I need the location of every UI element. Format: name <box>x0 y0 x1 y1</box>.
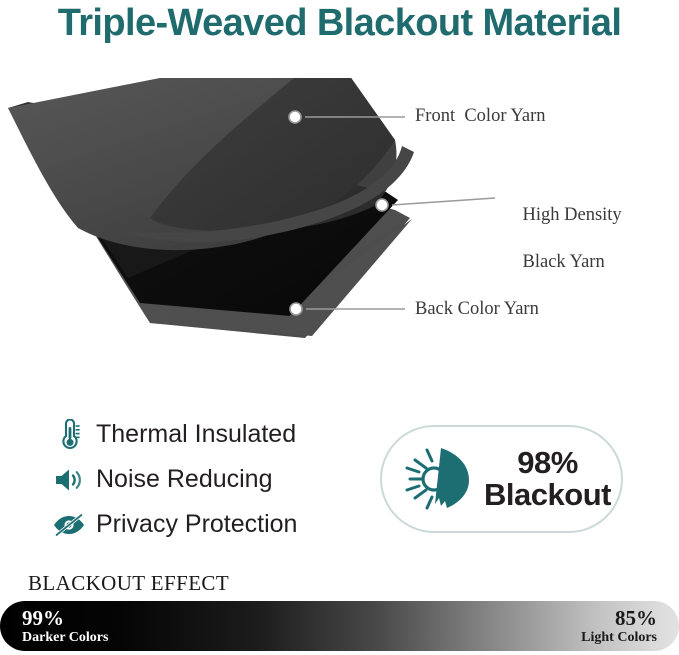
page-title: Triple-Weaved Blackout Material <box>0 2 679 45</box>
blackout-effect-gradient-bar: 99% Darker Colors 85% Light Colors <box>0 601 679 651</box>
speaker-icon <box>48 460 90 500</box>
label-high-density-black-yarn: High Density Black Yarn <box>504 180 622 298</box>
darker-colors-percent: 99% <box>22 607 108 630</box>
blackout-word: Blackout <box>482 479 613 511</box>
label-high-density-line2: Black Yarn <box>523 252 605 272</box>
blackout-badge: 98% Blackout <box>380 425 623 533</box>
feature-item-privacy: Privacy Protection <box>48 502 378 547</box>
label-front-color-yarn: Front Color Yarn <box>415 105 546 129</box>
darker-colors-caption: Darker Colors <box>22 630 108 645</box>
light-colors-caption: Light Colors <box>581 630 657 645</box>
light-colors-percent: 85% <box>581 607 657 630</box>
eye-slash-icon <box>48 505 90 545</box>
blackout-bar-left-stat: 99% Darker Colors <box>22 607 108 645</box>
label-high-density-line1: High Density <box>523 205 622 225</box>
feature-item-noise: Noise Reducing <box>48 457 378 502</box>
feature-list: Thermal Insulated Noise Reducing <box>48 412 378 547</box>
feature-item-thermal: Thermal Insulated <box>48 412 378 457</box>
sun-blocked-by-curtain-icon <box>394 444 482 514</box>
blackout-effect-heading: BLACKOUT EFFECT <box>28 571 229 596</box>
feature-label-privacy: Privacy Protection <box>96 510 297 539</box>
blackout-bar-right-stat: 85% Light Colors <box>581 607 657 645</box>
infographic-page: Triple-Weaved Blackout Material <box>0 0 679 655</box>
feature-label-noise: Noise Reducing <box>96 465 273 494</box>
blackout-badge-text: 98% Blackout <box>482 447 621 511</box>
blackout-percent: 98% <box>482 447 613 479</box>
thermometer-icon <box>48 415 90 455</box>
label-back-color-yarn: Back Color Yarn <box>415 298 539 322</box>
feature-label-thermal: Thermal Insulated <box>96 420 296 449</box>
